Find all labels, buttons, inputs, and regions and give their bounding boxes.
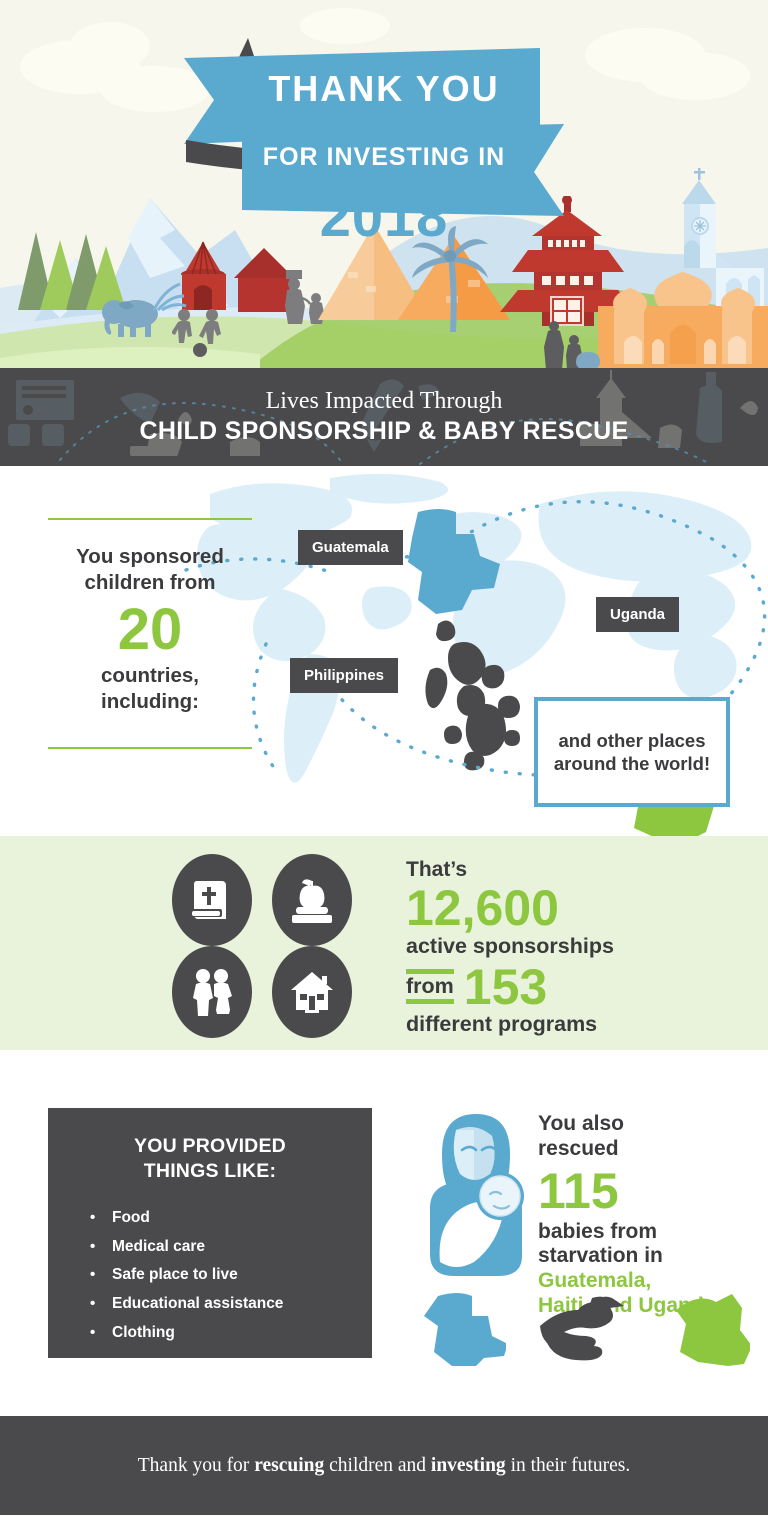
hero-section: THANK YOU FOR INVESTING IN 2018 (0, 0, 768, 368)
map-label-uganda: Uganda (596, 597, 679, 632)
from-label-box: from (406, 969, 454, 1005)
banner-subtitle: Lives Impacted Through (266, 388, 503, 416)
active-sponsorships-label: active sponsorships (406, 935, 746, 959)
programs-label: different programs (406, 1013, 746, 1037)
footer-middle: children and (324, 1455, 431, 1476)
provided-title-line2: THINGS LIKE: (68, 1159, 352, 1184)
section-provided-and-rescue: YOU PROVIDED THINGS LIKE: Food Medical c… (0, 1050, 768, 1416)
footer-suffix: in their futures. (506, 1455, 631, 1476)
children-playing-icon (172, 308, 228, 358)
map-label-philippines: Philippines (290, 658, 398, 693)
sponsored-outro: countries, including: (48, 663, 252, 714)
rescue-country-shapes (420, 1286, 750, 1370)
provided-title-line1: YOU PROVIDED (68, 1134, 352, 1159)
ribbon-banner: THANK YOU FOR INVESTING IN 2018 (0, 20, 768, 250)
bible-glyph (192, 877, 232, 923)
sponsored-intro-line2: children from (48, 570, 252, 596)
apple-books-glyph (290, 877, 334, 923)
footer-banner: Thank you for rescuing children and inve… (0, 1416, 768, 1515)
rescue-line4: starvation in (538, 1244, 754, 1269)
map-label-guatemala: Guatemala (298, 530, 403, 565)
two-children-icon (172, 946, 252, 1038)
apple-on-books-icon (272, 854, 352, 946)
children-glyph (190, 968, 234, 1016)
section-sponsorship-stats: That’s 12,600 active sponsorships from 1… (0, 836, 768, 1050)
sponsored-intro-line1: You sponsored (48, 544, 252, 570)
sponsored-intro: You sponsored children from (48, 544, 252, 595)
rescue-line2: rescued (538, 1137, 754, 1162)
list-item: Medical care (90, 1233, 352, 1262)
uganda-map-icon (670, 1286, 750, 1366)
list-item: Safe place to live (90, 1261, 352, 1290)
countries-count: 20 (48, 601, 252, 659)
programs-row: from 153 (406, 962, 746, 1012)
sponsored-outro-line1: countries, (48, 663, 252, 689)
sponsored-outro-line2: including: (48, 689, 252, 715)
provided-list: Food Medical care Safe place to live Edu… (68, 1204, 352, 1347)
active-sponsorships-count: 12,600 (406, 883, 746, 934)
guatemala-map-icon (420, 1290, 506, 1366)
footer-bold-investing: investing (431, 1455, 506, 1476)
divider-bottom (48, 747, 252, 749)
sponsorship-stats: That’s 12,600 active sponsorships from 1… (406, 858, 746, 1036)
other-places-text: and other places around the world! (538, 729, 726, 775)
footer-text: Thank you for rescuing children and inve… (138, 1455, 631, 1477)
banner-title: CHILD SPONSORSHIP & BABY RESCUE (139, 416, 628, 446)
provided-title: YOU PROVIDED THINGS LIKE: (68, 1134, 352, 1184)
house-icon (272, 946, 352, 1038)
other-places-box: and other places around the world! (534, 697, 730, 807)
sponsored-countries-callout: You sponsored children from 20 countries… (48, 518, 252, 749)
mother-holding-baby-icon (420, 1112, 530, 1282)
rescue-line3: babies from (538, 1220, 754, 1245)
stats-thats: That’s (406, 858, 746, 881)
section-banner: Lives Impacted Through CHILD SPONSORSHIP… (0, 368, 768, 466)
divider-top (48, 518, 252, 520)
haiti-map-icon (536, 1294, 632, 1364)
woman-with-jar-icon (540, 318, 606, 368)
list-item: Educational assistance (90, 1290, 352, 1319)
list-item: Clothing (90, 1319, 352, 1348)
house-glyph (289, 970, 335, 1014)
benefit-icons (162, 854, 362, 1038)
rescued-babies-count: 115 (538, 1165, 754, 1218)
footer-prefix: Thank you for (138, 1455, 254, 1476)
bible-icon (172, 854, 252, 946)
mosque-icon (598, 272, 768, 364)
rescue-line1: You also (538, 1112, 754, 1137)
footer-bold-rescuing: rescuing (254, 1455, 324, 1476)
list-item: Food (90, 1204, 352, 1233)
provided-things-box: YOU PROVIDED THINGS LIKE: Food Medical c… (48, 1108, 372, 1358)
from-label: from (406, 974, 454, 998)
programs-count: 153 (464, 962, 547, 1012)
